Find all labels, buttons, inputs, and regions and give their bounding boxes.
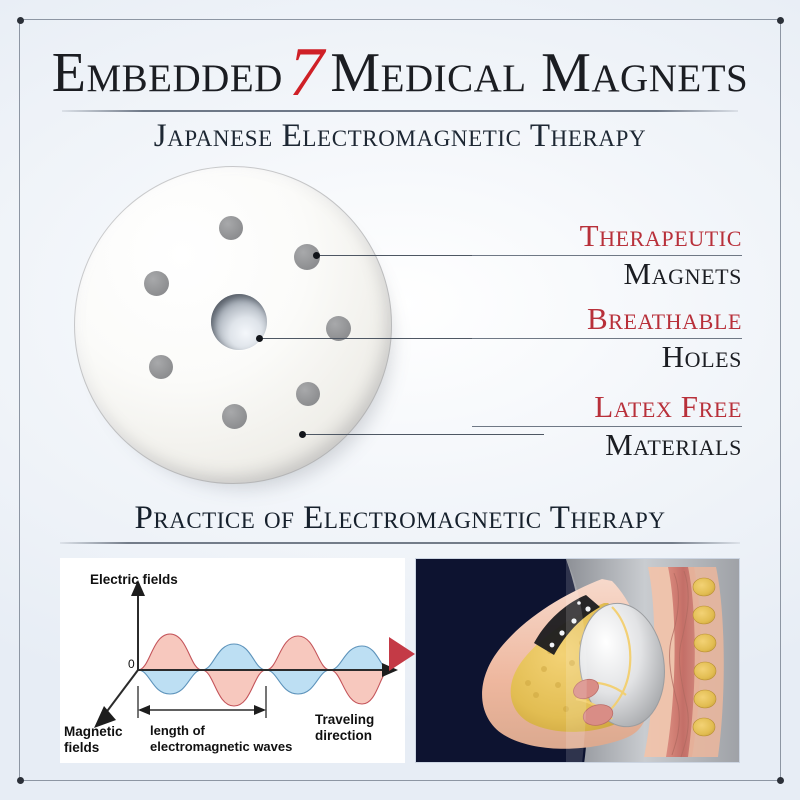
electromagnetic-wave-diagram-panel: Electric fields 0 Magnetic fields length… [60,558,405,763]
callout-2-title: Breathable [472,303,742,336]
callout-1-subtitle: Magnets [472,257,742,291]
label-magnetic-fields-line1: Magnetic [64,724,123,739]
label-wavelength-line1: length of [150,723,206,738]
frame-corner-dot-bottom-right [777,777,784,784]
leader-dot-therapeutic-magnets [313,252,320,259]
headline-before: Embedded [52,42,283,104]
frame-corner-dot-top-right [777,17,784,24]
magnet-dot-7 [222,404,247,429]
label-magnetic-fields-line2: fields [64,740,99,755]
magnet-dot-6 [296,382,320,406]
magnet-dot-3 [144,271,169,296]
practice-heading: Practice of Electromagnetic Therapy [0,500,800,536]
label-traveling-direction-line2: direction [315,728,372,743]
callout-latex-free-materials: Latex Free Materials [472,391,742,462]
callout-3-subtitle: Materials [472,428,742,462]
callout-2-subtitle: Holes [472,340,742,374]
leader-dot-latex-free-materials [299,431,306,438]
label-origin: 0 [128,657,135,671]
subheading: Japanese Electromagnetic Therapy [0,118,800,154]
callout-1-title: Therapeutic [472,220,742,253]
leader-dot-breathable-holes [256,335,263,342]
electromagnetic-wave-svg: Electric fields 0 Magnetic fields length… [60,558,405,763]
magnet-dot-5 [149,355,173,379]
poster-canvas: Embedded7Medical Magnets Japanese Electr… [0,0,800,800]
callout-therapeutic-magnets: Therapeutic Magnets [472,220,742,291]
frame-corner-dot-top-left [17,17,24,24]
anatomy-illustration-panel [415,558,740,763]
practice-heading-divider [60,542,740,544]
headline-after: Medical Magnets [330,42,748,104]
magnet-disc-illustration [74,166,404,496]
label-traveling-direction-line1: Traveling [315,712,374,727]
headline-divider [62,110,738,112]
frame-corner-dot-bottom-left [17,777,24,784]
headline-magnet-count: 7 [283,34,331,111]
label-wavelength-line2: electromagnetic waves [150,739,292,754]
red-right-arrow-icon [389,637,415,671]
callout-breathable-holes: Breathable Holes [472,303,742,374]
magnet-dot-1 [219,216,243,240]
breast-cross-section-svg [416,559,740,763]
headline: Embedded7Medical Magnets [0,38,800,108]
label-electric-fields: Electric fields [90,572,178,587]
callout-3-title: Latex Free [472,391,742,424]
